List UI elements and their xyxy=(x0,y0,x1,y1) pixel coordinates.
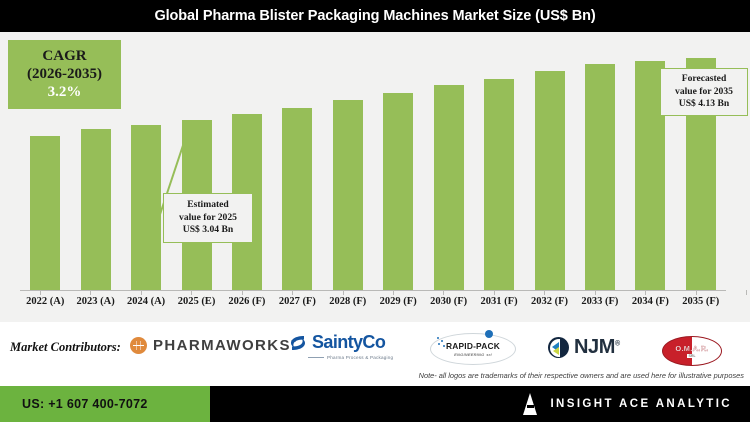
tick xyxy=(242,290,243,295)
logo-rapid-pack: RAPID-PACK ENGINEERING srl xyxy=(430,333,516,365)
x-axis-line xyxy=(20,290,726,291)
tick xyxy=(443,290,444,295)
tick xyxy=(645,290,646,295)
tick xyxy=(494,290,495,295)
chart-panel: CAGR (2026-2035) 3.2% 2022 (A)2023 (A)20… xyxy=(0,32,750,322)
footer-phone[interactable]: US: +1 607 400-7072 xyxy=(22,397,148,411)
tick xyxy=(393,290,394,295)
estimated-callout-line1: Estimated xyxy=(187,199,229,212)
logo-saintyco: SaintyCo Pharma Process & Packaging xyxy=(288,332,393,360)
tick xyxy=(595,290,596,295)
tick xyxy=(90,290,91,295)
logo-pharmaworks-text: PHARMAWORKS xyxy=(153,337,291,354)
logo-rapid-pack-line1: RAPID-PACK xyxy=(446,341,500,351)
logo-pharmaworks: PHARMAWORKS™ xyxy=(130,337,298,354)
forecasted-callout-line3: US$ 4.13 Bn xyxy=(679,98,729,111)
logo-njm-text: NJM xyxy=(574,336,615,358)
njm-arrow-icon xyxy=(548,337,569,358)
saintyco-swirl-icon xyxy=(288,333,308,353)
x-label-2031: 2031 (F) xyxy=(471,296,527,307)
logo-saintyco-text: SaintyCo xyxy=(312,332,385,353)
estimated-callout-line3: US$ 3.04 Bn xyxy=(183,224,233,237)
estimated-value-callout: Estimated value for 2025 US$ 3.04 Bn xyxy=(163,193,253,243)
blister-pack-icon xyxy=(130,337,147,354)
logo-omar: O.M.A.R. SRL xyxy=(662,336,722,366)
logo-rapid-pack-line2: ENGINEERING xyxy=(454,352,484,357)
forecasted-callout-line1: Forecasted xyxy=(682,73,727,86)
tick xyxy=(292,290,293,295)
x-label-2028: 2028 (F) xyxy=(320,296,376,307)
x-label-2035: 2035 (F) xyxy=(673,296,729,307)
logo-rapid-pack-suffix: srl xyxy=(486,352,492,357)
tick xyxy=(343,290,344,295)
logo-saintyco-tagline: Pharma Process & Packaging xyxy=(327,355,393,360)
header-bar: Global Pharma Blister Packaging Machines… xyxy=(0,0,750,32)
x-label-2022: 2022 (A) xyxy=(17,296,73,307)
x-label-2033: 2033 (F) xyxy=(572,296,628,307)
x-label-2032: 2032 (F) xyxy=(522,296,578,307)
rapidpack-sphere-icon xyxy=(485,330,493,338)
tick xyxy=(40,290,41,295)
rapidpack-specks-icon xyxy=(437,337,447,347)
x-label-2023: 2023 (A) xyxy=(68,296,124,307)
footer-brand-name: INSIGHT ACE ANALYTIC xyxy=(550,398,732,410)
x-label-2030: 2030 (F) xyxy=(421,296,477,307)
x-label-2027: 2027 (F) xyxy=(269,296,325,307)
forecasted-callout-line2: value for 2035 xyxy=(675,86,733,99)
forecasted-value-callout: Forecasted value for 2035 US$ 4.13 Bn xyxy=(660,68,748,116)
x-axis-labels: 2022 (A)2023 (A)2024 (A)2025 (E)2026 (F)… xyxy=(20,296,726,314)
tick xyxy=(141,290,142,295)
tick xyxy=(544,290,545,295)
tick xyxy=(746,290,747,295)
x-axis-ticks xyxy=(20,32,730,290)
infographic-root: Global Pharma Blister Packaging Machines… xyxy=(0,0,750,422)
x-label-2029: 2029 (F) xyxy=(370,296,426,307)
tick xyxy=(191,290,192,295)
market-contributors-section: Market Contributors: PHARMAWORKS™ Sainty… xyxy=(0,322,750,386)
tick xyxy=(696,290,697,295)
logo-omar-sub: SRL xyxy=(687,354,698,358)
x-label-2026: 2026 (F) xyxy=(219,296,275,307)
page-title: Global Pharma Blister Packaging Machines… xyxy=(154,8,595,24)
x-label-2024: 2024 (A) xyxy=(118,296,174,307)
x-label-2034: 2034 (F) xyxy=(622,296,678,307)
insightace-logo-icon xyxy=(523,393,538,415)
contributors-label: Market Contributors: xyxy=(10,340,121,355)
logo-njm: NJM® xyxy=(548,336,620,359)
trademark-note: Note- all logos are trademarks of their … xyxy=(419,371,744,380)
footer-bar: US: +1 607 400-7072 INSIGHT ACE ANALYTIC xyxy=(0,386,750,422)
estimated-callout-line2: value for 2025 xyxy=(179,212,237,225)
logo-omar-text: O.M.A.R. xyxy=(675,344,708,353)
footer-brand: INSIGHT ACE ANALYTIC xyxy=(523,386,732,422)
registered-icon: ® xyxy=(615,340,620,347)
footer-contact-block: US: +1 607 400-7072 xyxy=(0,386,210,422)
x-label-2025: 2025 (E) xyxy=(169,296,225,307)
